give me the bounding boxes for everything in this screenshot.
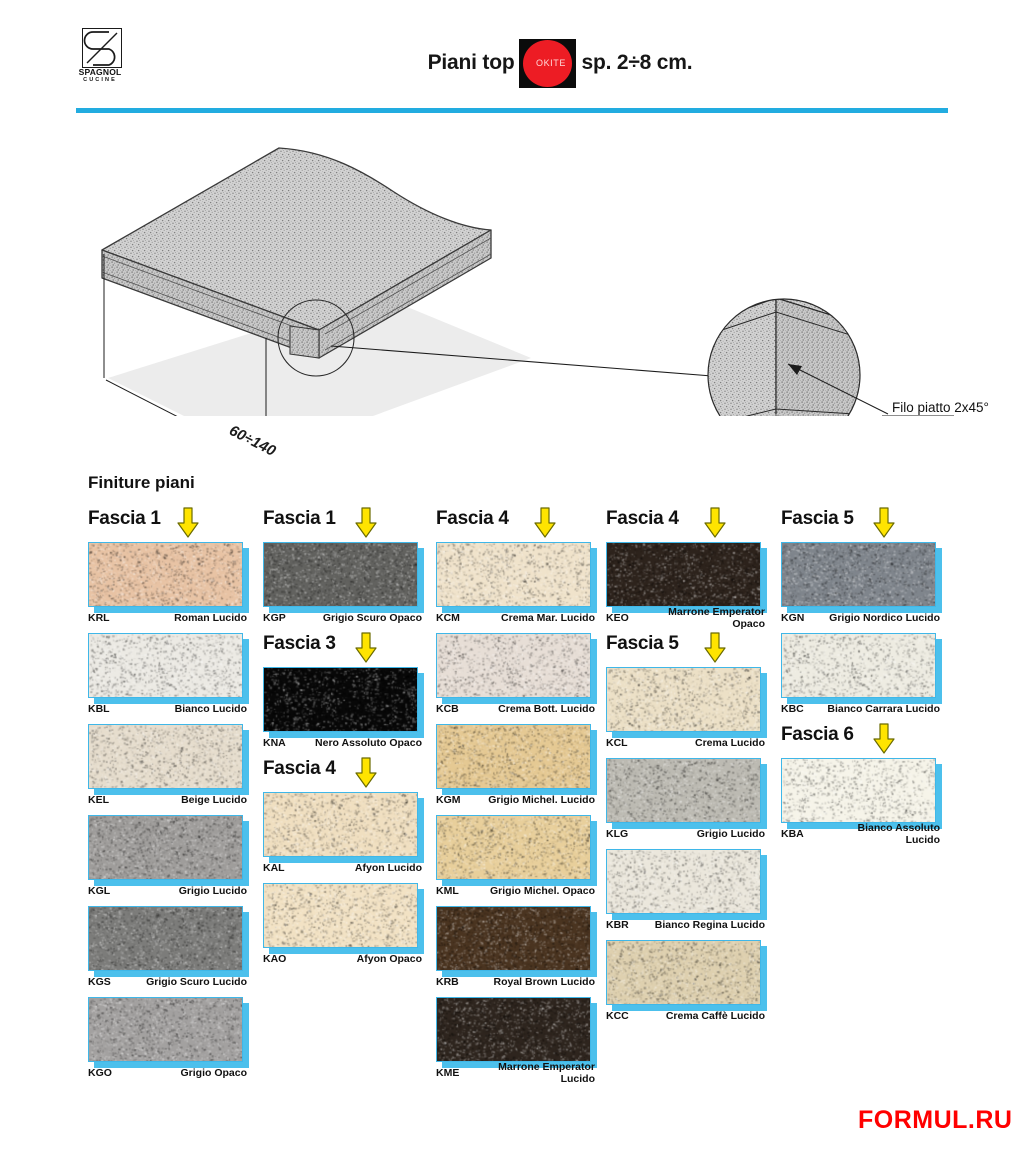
title-left-text: Piani top bbox=[428, 51, 515, 75]
finish-swatch[interactable] bbox=[263, 542, 418, 607]
finish-swatch-item[interactable]: KGSGrigio Scuro Lucido bbox=[80, 906, 258, 993]
finish-code: KGP bbox=[263, 612, 309, 624]
finish-swatch-item[interactable]: KCCCrema Caffè Lucido bbox=[598, 940, 776, 1027]
okite-logo-icon: OKITE bbox=[519, 39, 576, 88]
finish-name: Grigio Scuro Opaco bbox=[309, 612, 426, 624]
finish-swatch-color bbox=[89, 907, 242, 970]
finish-swatch-item[interactable]: KBABianco Assoluto Lucido bbox=[773, 758, 951, 845]
finish-swatch[interactable] bbox=[436, 997, 591, 1062]
finish-swatch-item[interactable]: KGPGrigio Scuro Opaco bbox=[255, 542, 433, 629]
finish-code: KGM bbox=[436, 794, 482, 806]
finish-swatch-color bbox=[607, 941, 760, 1004]
finish-swatch-color bbox=[607, 668, 760, 731]
finish-swatch[interactable] bbox=[88, 724, 243, 789]
finish-swatch[interactable] bbox=[436, 724, 591, 789]
finish-swatch-item[interactable]: KGNGrigio Nordico Lucido bbox=[773, 542, 951, 629]
finish-name: Grigio Michel. Lucido bbox=[482, 794, 599, 806]
fascia-label: Fascia 3 bbox=[263, 633, 336, 655]
finish-caption: KGSGrigio Scuro Lucido bbox=[88, 971, 251, 993]
finish-caption: KCCCrema Caffè Lucido bbox=[606, 1005, 769, 1027]
finish-swatch-item[interactable]: KCBCrema Bott. Lucido bbox=[428, 633, 606, 720]
finish-name: Grigio Michel. Opaco bbox=[482, 885, 599, 897]
finish-name: Afyon Lucido bbox=[309, 862, 426, 874]
finish-caption: KNANero Assoluto Opaco bbox=[263, 732, 426, 754]
finish-name: Beige Lucido bbox=[134, 794, 251, 806]
finish-swatch-color bbox=[264, 668, 417, 731]
arrow-down-icon bbox=[177, 507, 199, 538]
finish-swatch-color bbox=[437, 998, 590, 1061]
finish-swatch[interactable] bbox=[781, 542, 936, 607]
arrow-down-icon bbox=[704, 507, 726, 538]
finish-swatch[interactable] bbox=[88, 542, 243, 607]
finish-swatch-item[interactable]: KGLGrigio Lucido bbox=[80, 815, 258, 902]
finish-caption: KAOAfyon Opaco bbox=[263, 948, 426, 970]
fascia-label: Fascia 5 bbox=[606, 633, 679, 655]
finiture-section-title: Finiture piani bbox=[88, 473, 195, 493]
finish-caption: KCLCrema Lucido bbox=[606, 732, 769, 754]
finish-code: KGO bbox=[88, 1067, 134, 1079]
finish-code: KBA bbox=[781, 828, 827, 840]
finish-caption: KMLGrigio Michel. Opaco bbox=[436, 880, 599, 902]
finish-code: KGS bbox=[88, 976, 134, 988]
finish-swatch-color bbox=[437, 816, 590, 879]
finish-caption: KRBRoyal Brown Lucido bbox=[436, 971, 599, 993]
finish-name: Grigio Lucido bbox=[652, 828, 769, 840]
slab-dimension-label: 60÷140 bbox=[226, 422, 278, 460]
finish-swatch-item[interactable]: KCMCrema Mar. Lucido bbox=[428, 542, 606, 629]
finish-swatch-item[interactable]: KBRBianco Regina Lucido bbox=[598, 849, 776, 936]
finish-swatch[interactable] bbox=[88, 906, 243, 971]
finish-swatch[interactable] bbox=[88, 815, 243, 880]
finish-swatch-color bbox=[89, 543, 242, 606]
finish-code: KBL bbox=[88, 703, 134, 715]
finish-caption: KELBeige Lucido bbox=[88, 789, 251, 811]
finish-swatch[interactable] bbox=[606, 758, 761, 823]
finish-swatch[interactable] bbox=[263, 667, 418, 732]
finish-swatch-color bbox=[437, 907, 590, 970]
finish-code: KBC bbox=[781, 703, 827, 715]
finish-caption: KCMCrema Mar. Lucido bbox=[436, 607, 599, 629]
fascia-heading: Fascia 5 bbox=[598, 633, 776, 667]
finish-swatch[interactable] bbox=[781, 758, 936, 823]
arrow-down-icon bbox=[873, 723, 895, 754]
finish-code: KCL bbox=[606, 737, 652, 749]
finish-name: Crema Bott. Lucido bbox=[482, 703, 599, 715]
title-right-text: sp. 2÷8 cm. bbox=[581, 51, 692, 75]
fascia-heading: Fascia 3 bbox=[255, 633, 433, 667]
finish-caption: KEOMarrone Emperator Opaco bbox=[606, 607, 769, 629]
finish-caption: KGNGrigio Nordico Lucido bbox=[781, 607, 944, 629]
finish-swatch[interactable] bbox=[436, 542, 591, 607]
finish-code: KCC bbox=[606, 1010, 652, 1022]
finish-swatch-item[interactable]: KRLRoman Lucido bbox=[80, 542, 258, 629]
finish-code: KME bbox=[436, 1067, 482, 1079]
finish-caption: KGOGrigio Opaco bbox=[88, 1062, 251, 1084]
finish-swatch-item[interactable]: KNANero Assoluto Opaco bbox=[255, 667, 433, 754]
fascia-label: Fascia 4 bbox=[606, 508, 679, 530]
finish-swatch-color bbox=[89, 816, 242, 879]
finish-swatch[interactable] bbox=[606, 542, 761, 607]
finish-swatch-color bbox=[437, 725, 590, 788]
spagnol-logo-icon bbox=[82, 28, 122, 68]
finish-code: KRB bbox=[436, 976, 482, 988]
finish-caption: KGLGrigio Lucido bbox=[88, 880, 251, 902]
header-divider bbox=[76, 108, 948, 113]
page-title: Piani top OKITE sp. 2÷8 cm. bbox=[330, 40, 790, 86]
slab-illustration-icon bbox=[76, 126, 956, 416]
finish-caption: KGMGrigio Michel. Lucido bbox=[436, 789, 599, 811]
finish-caption: KBLBianco Lucido bbox=[88, 698, 251, 720]
arrow-down-icon bbox=[704, 632, 726, 663]
finish-name: Crema Lucido bbox=[652, 737, 769, 749]
finish-name: Bianco Regina Lucido bbox=[652, 919, 769, 931]
okite-label: OKITE bbox=[536, 58, 566, 68]
finish-swatch-item[interactable]: KGMGrigio Michel. Lucido bbox=[428, 724, 606, 811]
finish-swatch-item[interactable]: KLGGrigio Lucido bbox=[598, 758, 776, 845]
finish-name: Grigio Nordico Lucido bbox=[827, 612, 944, 624]
finishes-column: Fascia 1KRLRoman LucidoKBLBianco LucidoK… bbox=[80, 508, 258, 1088]
finish-swatch[interactable] bbox=[606, 849, 761, 914]
finish-swatch-color bbox=[607, 850, 760, 913]
finish-name: Bianco Lucido bbox=[134, 703, 251, 715]
finish-name: Nero Assoluto Opaco bbox=[309, 737, 426, 749]
filo-piatto-label: Filo piatto 2x45° bbox=[892, 400, 989, 415]
finish-code: KGL bbox=[88, 885, 134, 897]
finish-swatch[interactable] bbox=[88, 997, 243, 1062]
finish-caption: KMEMarrone Emperator Lucido bbox=[436, 1062, 599, 1084]
finish-swatch-color bbox=[89, 634, 242, 697]
finish-caption: KBABianco Assoluto Lucido bbox=[781, 823, 944, 845]
arrow-down-icon bbox=[355, 632, 377, 663]
finish-swatch[interactable] bbox=[88, 633, 243, 698]
finishes-column: Fascia 1KGPGrigio Scuro OpacoFascia 3KNA… bbox=[255, 508, 433, 974]
fascia-label: Fascia 1 bbox=[88, 508, 161, 530]
fascia-heading: Fascia 4 bbox=[598, 508, 776, 542]
finish-swatch-color bbox=[437, 634, 590, 697]
arrow-down-icon bbox=[534, 507, 556, 538]
finish-caption: KLGGrigio Lucido bbox=[606, 823, 769, 845]
page-header: SPAGNOL CUCINE Piani top OKITE sp. 2÷8 c… bbox=[0, 0, 1024, 118]
finish-code: KCB bbox=[436, 703, 482, 715]
finish-swatch-item[interactable]: KCLCrema Lucido bbox=[598, 667, 776, 754]
fascia-label: Fascia 4 bbox=[436, 508, 509, 530]
finish-swatch-color bbox=[782, 759, 935, 822]
finish-swatch-item[interactable]: KGOGrigio Opaco bbox=[80, 997, 258, 1084]
logo-sub-text: CUCINE bbox=[72, 77, 128, 83]
finish-swatch-color bbox=[437, 543, 590, 606]
finish-code: KRL bbox=[88, 612, 134, 624]
technical-drawing: 60÷140 Filo piatto 2x45° bbox=[76, 126, 956, 416]
fascia-heading: Fascia 1 bbox=[255, 508, 433, 542]
finish-name: Roman Lucido bbox=[134, 612, 251, 624]
finish-code: KEO bbox=[606, 612, 652, 624]
finish-name: Crema Caffè Lucido bbox=[652, 1010, 769, 1022]
finish-code: KBR bbox=[606, 919, 652, 931]
finish-name: Grigio Lucido bbox=[134, 885, 251, 897]
finish-swatch-item[interactable]: KMLGrigio Michel. Opaco bbox=[428, 815, 606, 902]
finish-code: KAL bbox=[263, 862, 309, 874]
finish-name: Afyon Opaco bbox=[309, 953, 426, 965]
finish-swatch-item[interactable]: KMEMarrone Emperator Lucido bbox=[428, 997, 606, 1084]
finish-code: KEL bbox=[88, 794, 134, 806]
finish-name: Marrone Emperator Opaco bbox=[652, 606, 769, 630]
finish-code: KCM bbox=[436, 612, 482, 624]
finish-swatch-item[interactable]: KAOAfyon Opaco bbox=[255, 883, 433, 970]
finishes-grid: Fascia 1KRLRoman LucidoKBLBianco LucidoK… bbox=[80, 508, 970, 1138]
finish-swatch[interactable] bbox=[606, 940, 761, 1005]
finish-swatch[interactable] bbox=[781, 633, 936, 698]
finish-swatch-color bbox=[264, 543, 417, 606]
finish-code: KLG bbox=[606, 828, 652, 840]
finish-code: KAO bbox=[263, 953, 309, 965]
finish-swatch-color bbox=[264, 884, 417, 947]
finish-caption: KRLRoman Lucido bbox=[88, 607, 251, 629]
arrow-down-icon bbox=[355, 507, 377, 538]
finish-swatch-color bbox=[264, 793, 417, 856]
spagnol-logo: SPAGNOL CUCINE bbox=[72, 28, 128, 86]
arrow-down-icon bbox=[355, 757, 377, 788]
finish-swatch[interactable] bbox=[263, 883, 418, 948]
finish-swatch-color bbox=[607, 759, 760, 822]
finish-swatch-item[interactable]: KALAfyon Lucido bbox=[255, 792, 433, 879]
finish-swatch[interactable] bbox=[263, 792, 418, 857]
fascia-label: Fascia 6 bbox=[781, 724, 854, 746]
finish-name: Crema Mar. Lucido bbox=[482, 612, 599, 624]
finish-name: Grigio Scuro Lucido bbox=[134, 976, 251, 988]
finish-swatch[interactable] bbox=[436, 906, 591, 971]
finish-caption: KGPGrigio Scuro Opaco bbox=[263, 607, 426, 629]
finish-swatch-item[interactable]: KELBeige Lucido bbox=[80, 724, 258, 811]
finish-code: KML bbox=[436, 885, 482, 897]
finishes-column: Fascia 4KEOMarrone Emperator OpacoFascia… bbox=[598, 508, 776, 1031]
finish-caption: KCBCrema Bott. Lucido bbox=[436, 698, 599, 720]
okite-disc: OKITE bbox=[523, 40, 572, 87]
finish-name: Grigio Opaco bbox=[134, 1067, 251, 1079]
finish-swatch-item[interactable]: KBCBianco Carrara Lucido bbox=[773, 633, 951, 720]
fascia-heading: Fascia 1 bbox=[80, 508, 258, 542]
finish-swatch-item[interactable]: KBLBianco Lucido bbox=[80, 633, 258, 720]
fascia-heading: Fascia 4 bbox=[255, 758, 433, 792]
fascia-heading: Fascia 5 bbox=[773, 508, 951, 542]
fascia-label: Fascia 1 bbox=[263, 508, 336, 530]
logo-brand-text: SPAGNOL bbox=[72, 67, 128, 77]
finishes-column: Fascia 5KGNGrigio Nordico LucidoKBCBianc… bbox=[773, 508, 951, 849]
finish-name: Bianco Assoluto Lucido bbox=[827, 822, 944, 846]
finish-swatch-color bbox=[782, 543, 935, 606]
finish-swatch[interactable] bbox=[606, 667, 761, 732]
finish-caption: KBCBianco Carrara Lucido bbox=[781, 698, 944, 720]
finish-swatch[interactable] bbox=[436, 815, 591, 880]
fascia-label: Fascia 5 bbox=[781, 508, 854, 530]
site-watermark: FORMUL.RU bbox=[858, 1106, 1012, 1135]
finish-caption: KBRBianco Regina Lucido bbox=[606, 914, 769, 936]
finish-name: Bianco Carrara Lucido bbox=[827, 703, 944, 715]
arrow-down-icon bbox=[873, 507, 895, 538]
finish-swatch-item[interactable]: KEOMarrone Emperator Opaco bbox=[598, 542, 776, 629]
finish-caption: KALAfyon Lucido bbox=[263, 857, 426, 879]
fascia-label: Fascia 4 bbox=[263, 758, 336, 780]
fascia-heading: Fascia 4 bbox=[428, 508, 606, 542]
finish-swatch-color bbox=[89, 725, 242, 788]
finish-swatch-item[interactable]: KRBRoyal Brown Lucido bbox=[428, 906, 606, 993]
finish-name: Marrone Emperator Lucido bbox=[482, 1061, 599, 1085]
finish-name: Royal Brown Lucido bbox=[482, 976, 599, 988]
fascia-heading: Fascia 6 bbox=[773, 724, 951, 758]
finishes-column: Fascia 4KCMCrema Mar. LucidoKCBCrema Bot… bbox=[428, 508, 606, 1088]
finish-swatch-color bbox=[89, 998, 242, 1061]
finish-swatch[interactable] bbox=[436, 633, 591, 698]
finish-swatch-color bbox=[782, 634, 935, 697]
spagnol-s-mark-icon bbox=[83, 29, 121, 67]
finish-code: KNA bbox=[263, 737, 309, 749]
finish-code: KGN bbox=[781, 612, 827, 624]
finish-swatch-color bbox=[607, 543, 760, 606]
